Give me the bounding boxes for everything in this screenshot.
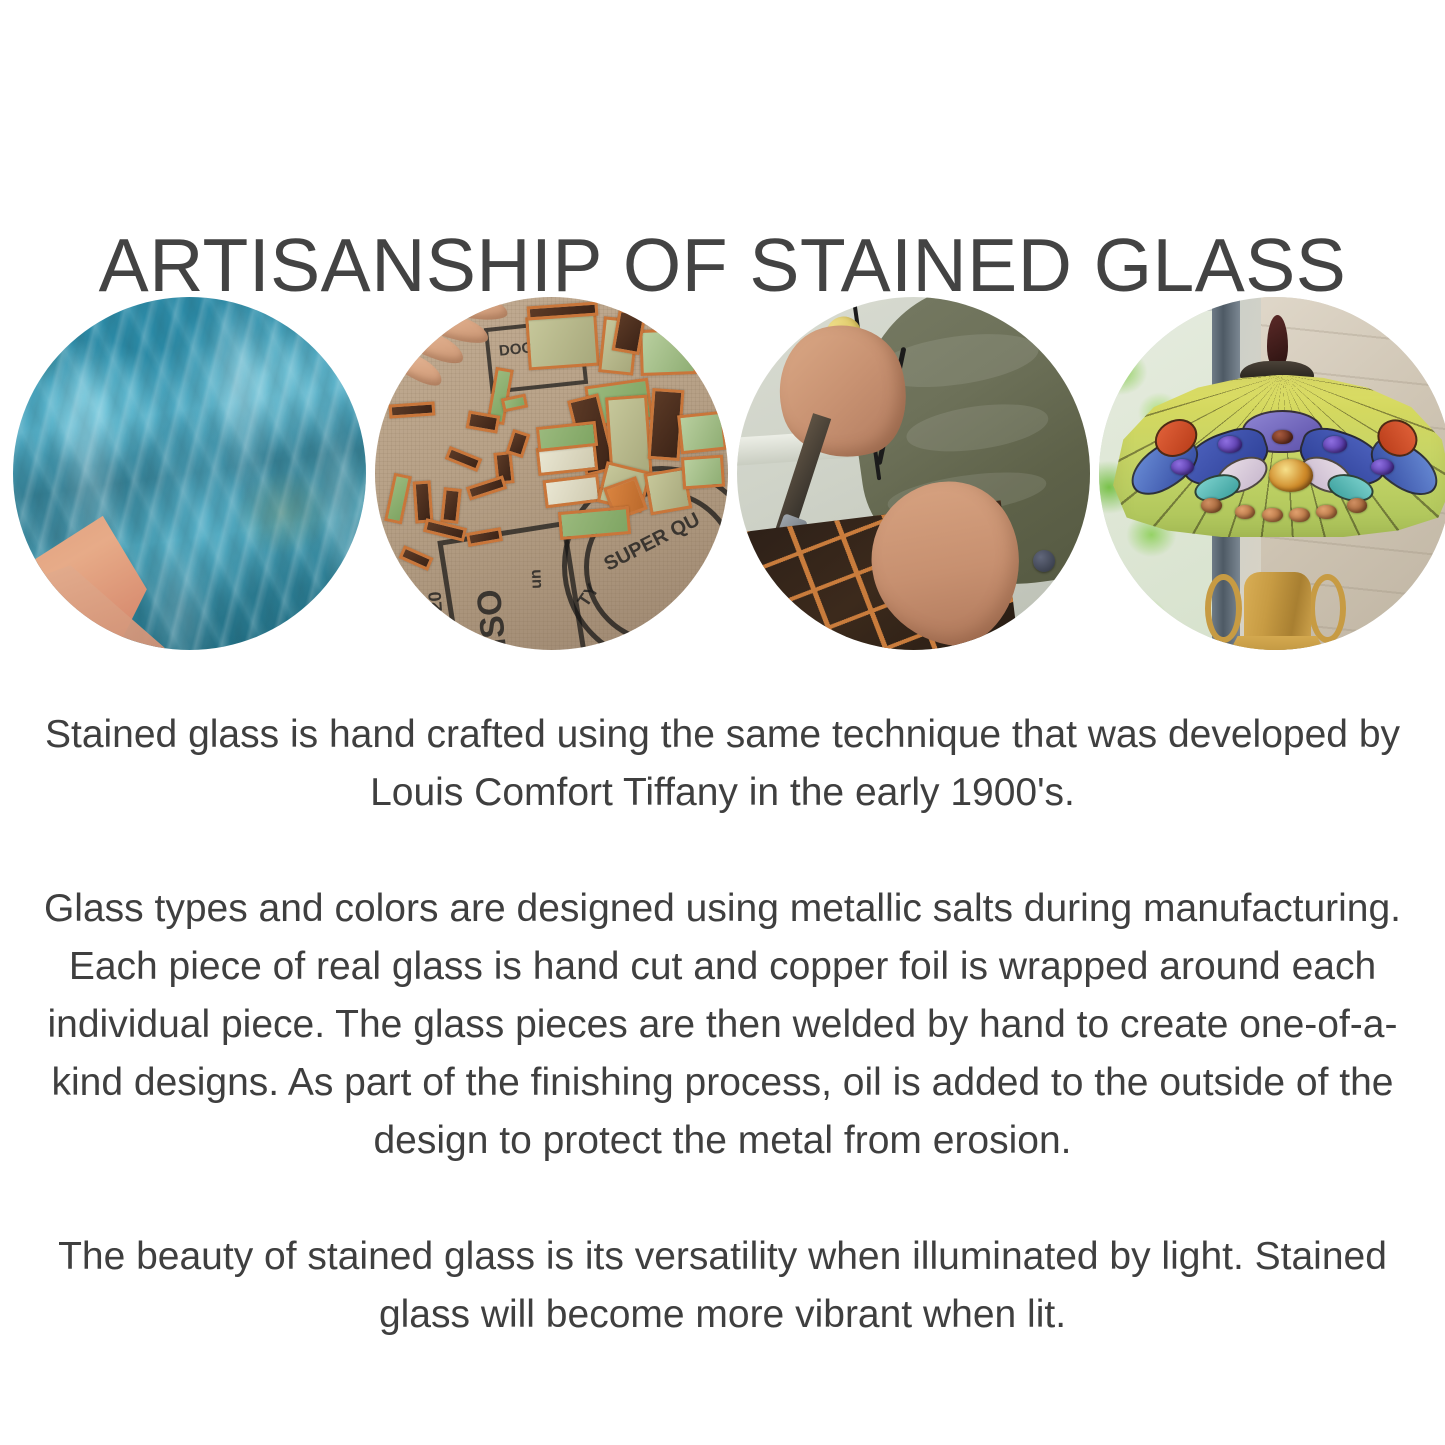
glass-shard [557, 506, 630, 540]
glass-shard [398, 545, 433, 571]
gallery-image-soldering-panel [737, 297, 1090, 650]
stamp-text-un: un [527, 569, 546, 589]
page-title: ARTISANSHIP OF STAINED GLASS [0, 228, 1445, 303]
body-copy: Stained glass is hand crafted using the … [40, 706, 1405, 1344]
lamp-arm-right [1309, 574, 1346, 642]
glass-shard [465, 411, 499, 434]
stamp-text-ch: CH [692, 570, 719, 593]
shade-jewel [1272, 430, 1292, 445]
tiffany-lamp-photo [1099, 297, 1445, 650]
glass-shard [440, 487, 461, 524]
paragraph-process: Glass types and colors are designed usin… [40, 880, 1405, 1170]
shade-jewel-fringe [1316, 505, 1336, 520]
glass-shard [466, 475, 507, 500]
image-gallery: SUPER QU TY CH ISO 001:20 CE un DOC [13, 297, 1433, 653]
stamp-text-ca: CE [382, 584, 399, 604]
lamp-finial [1267, 315, 1288, 368]
glass-shard [681, 454, 725, 489]
sleeve-button-icon [1033, 550, 1055, 572]
gallery-image-finished-tiffany-lamp [1099, 297, 1445, 650]
glass-shard [677, 411, 727, 454]
glass-shard [525, 312, 599, 370]
shade-jewel [1269, 459, 1313, 491]
copper-foil-photo: SUPER QU TY CH ISO 001:20 CE un DOC [375, 297, 728, 650]
lamp-arm-left [1205, 574, 1242, 642]
glass-shard [506, 429, 530, 458]
paragraph-technique: Stained glass is hand crafted using the … [40, 706, 1405, 822]
gallery-image-glass-sheet [13, 297, 366, 650]
paragraph-beauty: The beauty of stained glass is its versa… [40, 1228, 1405, 1344]
shade-jewel-fringe [1262, 508, 1282, 523]
glass-shard [444, 446, 482, 472]
gallery-image-copper-foiled-pieces: SUPER QU TY CH ISO 001:20 CE un DOC [375, 297, 728, 650]
infographic-page: ARTISANSHIP OF STAINED GLASS SUPER QU TY… [0, 0, 1445, 1445]
glass-shard [412, 480, 433, 523]
glass-sheet-photo [13, 297, 366, 650]
soldering-photo [737, 297, 1090, 650]
stamp-text-iso: ISO [470, 587, 515, 649]
shade-jewel-fringe [1289, 508, 1309, 523]
shade-jewel-fringe [1347, 498, 1367, 513]
shade-jewel [1323, 436, 1347, 452]
glass-shard [639, 328, 697, 376]
shade-jewel-fringe [1201, 498, 1221, 513]
glass-shard [384, 472, 412, 524]
stamp-text-code: 001:20 [425, 591, 450, 648]
shade-jewel [1218, 436, 1242, 452]
